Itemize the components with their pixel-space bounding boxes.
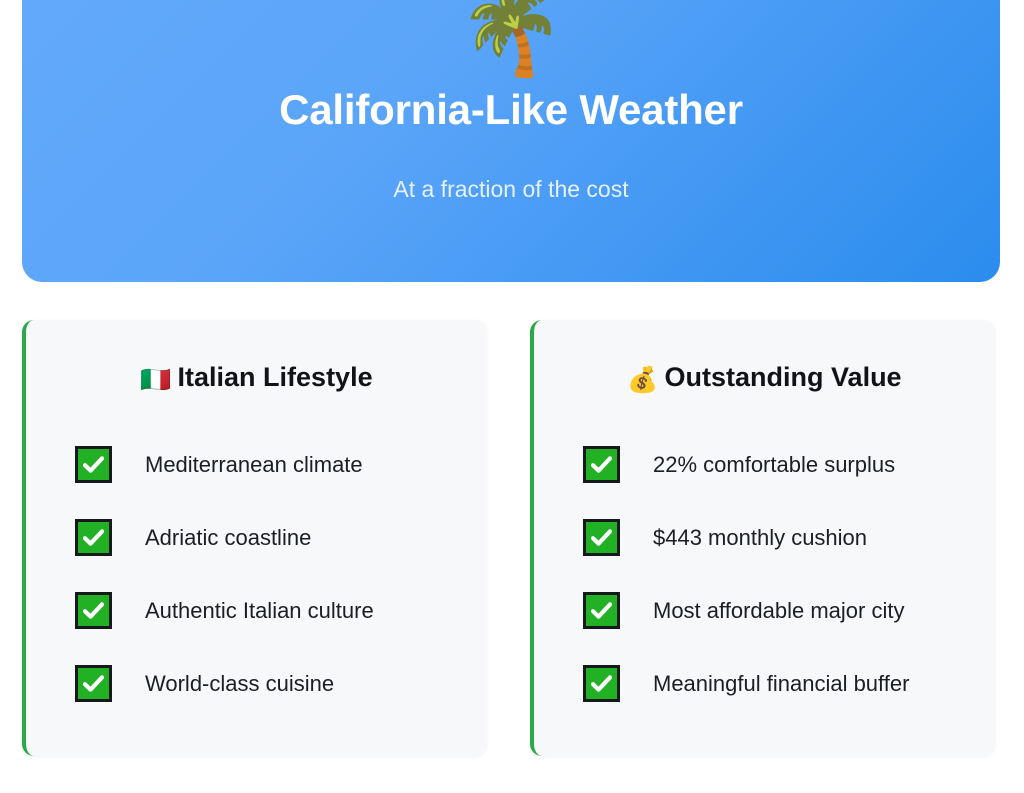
card-outstanding-value: 💰Outstanding Value 22% comfortable surpl… <box>530 320 995 756</box>
check-mark-icon <box>583 446 620 483</box>
list-item: Authentic Italian culture <box>48 574 465 647</box>
check-mark-icon <box>75 446 112 483</box>
feature-list: Mediterranean climate Adriatic coastline… <box>48 428 465 720</box>
card-title-label: Outstanding Value <box>665 362 902 392</box>
check-mark-icon <box>75 519 112 556</box>
list-item-label: Authentic Italian culture <box>145 598 374 623</box>
list-item: Adriatic coastline <box>48 501 465 574</box>
page-subtitle: At a fraction of the cost <box>393 177 628 202</box>
list-item: $443 monthly cushion <box>556 501 973 574</box>
money-bag-icon: 💰 <box>627 365 658 394</box>
list-item: Meaningful financial buffer <box>556 647 973 720</box>
feature-list: 22% comfortable surplus $443 monthly cus… <box>556 428 973 720</box>
card-italian-lifestyle: 🇮🇹Italian Lifestyle Mediterranean climat… <box>22 320 487 756</box>
list-item: Mediterranean climate <box>48 428 465 501</box>
list-item-label: Meaningful financial buffer <box>653 671 909 696</box>
list-item: World-class cuisine <box>48 647 465 720</box>
palm-tree-icon: 🌴 <box>457 0 564 77</box>
list-item: 22% comfortable surplus <box>556 428 973 501</box>
page-title: California-Like Weather <box>279 87 743 133</box>
check-mark-icon <box>583 592 620 629</box>
feature-cards-row: 🇮🇹Italian Lifestyle Mediterranean climat… <box>22 320 995 756</box>
list-item-label: 22% comfortable surplus <box>653 452 895 477</box>
italy-flag-icon: 🇮🇹 <box>140 365 171 394</box>
hero-banner: 🌴 California-Like Weather At a fraction … <box>22 0 1000 282</box>
list-item-label: Adriatic coastline <box>145 525 311 550</box>
list-item-label: Most affordable major city <box>653 598 904 623</box>
list-item-label: $443 monthly cushion <box>653 525 867 550</box>
check-mark-icon <box>75 592 112 629</box>
list-item-label: Mediterranean climate <box>145 452 363 477</box>
check-mark-icon <box>583 519 620 556</box>
list-item: Most affordable major city <box>556 574 973 647</box>
check-mark-icon <box>75 665 112 702</box>
list-item-label: World-class cuisine <box>145 671 334 696</box>
check-mark-icon <box>583 665 620 702</box>
card-title: 💰Outstanding Value <box>556 362 973 395</box>
card-title-label: Italian Lifestyle <box>178 362 373 392</box>
card-title: 🇮🇹Italian Lifestyle <box>48 362 465 395</box>
